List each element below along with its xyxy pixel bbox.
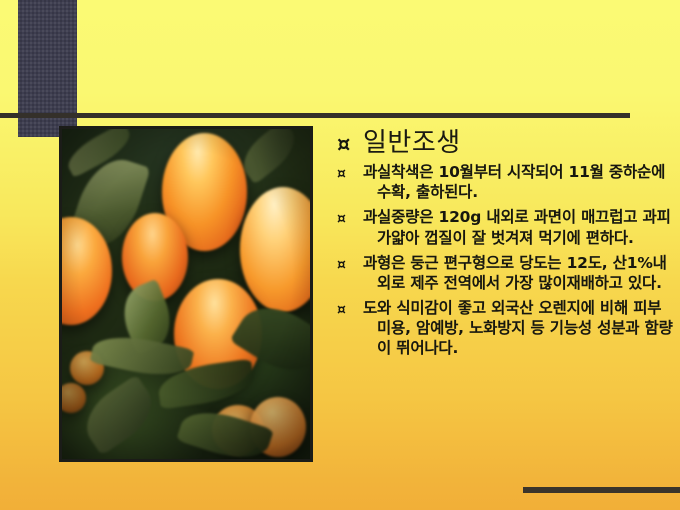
list-item-text: 도와 식미감이 좋고 외국산 오렌지에 비해 피부미용, 암예방, 노화방지 등…: [363, 298, 673, 358]
list-item-text: 과실중량은 120g 내외로 과면이 매끄럽고 과피가얇아 껍질이 잘 벗겨져 …: [363, 207, 673, 247]
list-item: ¤ 도와 식미감이 좋고 외국산 오렌지에 비해 피부미용, 암예방, 노화방지…: [337, 298, 673, 358]
photo-softness: [62, 129, 310, 459]
orange-photo: [62, 129, 310, 459]
list-item-text: 과형은 둥근 편구형으로 당도는 12도, 산1%내외로 제주 전역에서 가장 …: [363, 253, 673, 293]
content-text-column: ¤ 일반조생 ¤ 과실착색은 10월부터 시작되어 11월 중하순에 수확, 출…: [337, 128, 673, 363]
bullet-marker-icon: ¤: [337, 298, 363, 317]
bullet-marker-icon: ¤: [337, 128, 363, 155]
decorative-bottom-rule: [523, 487, 680, 493]
list-item: ¤ 과형은 둥근 편구형으로 당도는 12도, 산1%내외로 제주 전역에서 가…: [337, 253, 673, 293]
slide: ¤ 일반조생 ¤ 과실착색은 10월부터 시작되어 11월 중하순에 수확, 출…: [0, 0, 680, 510]
list-item-text: 과실착색은 10월부터 시작되어 11월 중하순에 수확, 출하된다.: [363, 162, 673, 202]
page-title: 일반조생: [363, 128, 461, 159]
list-item: ¤ 과실착색은 10월부터 시작되어 11월 중하순에 수확, 출하된다.: [337, 162, 673, 202]
bullet-marker-icon: ¤: [337, 162, 363, 181]
slide-title-row: ¤ 일반조생: [337, 128, 673, 159]
list-item: ¤ 과실중량은 120g 내외로 과면이 매끄럽고 과피가얇아 껍질이 잘 벗겨…: [337, 207, 673, 247]
decorative-top-rule: [0, 113, 630, 118]
bullet-marker-icon: ¤: [337, 253, 363, 272]
bullet-marker-icon: ¤: [337, 207, 363, 226]
orange-photo-frame: [59, 126, 313, 462]
